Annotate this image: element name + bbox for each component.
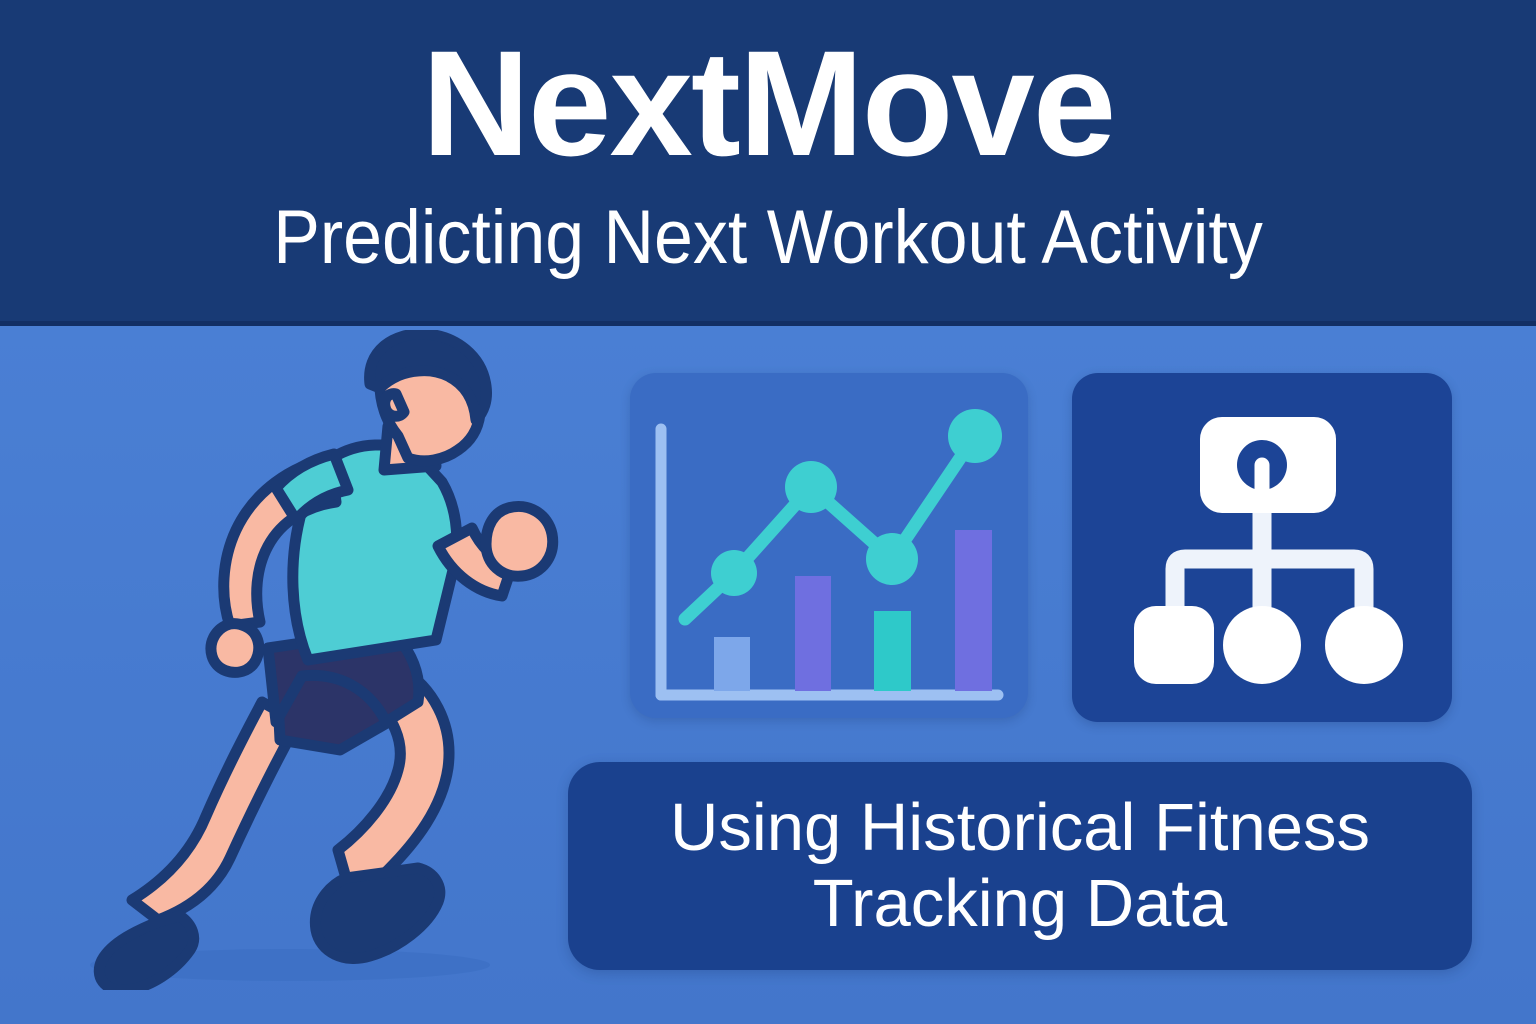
data-point-1 [711, 550, 757, 596]
banner-line-1: Using Historical Fitness [670, 790, 1370, 866]
running-man-illustration [40, 330, 600, 990]
child-node-right [1325, 606, 1403, 684]
chart-card [630, 373, 1028, 718]
data-point-2 [785, 461, 837, 513]
page-subtitle: Predicting Next Workout Activity [61, 196, 1474, 280]
front-shoe-icon [315, 868, 439, 958]
ear-icon [385, 394, 404, 417]
child-node-middle [1223, 606, 1301, 684]
data-point-4 [948, 409, 1002, 463]
data-point-3 [866, 533, 918, 585]
hierarchy-diagram-card [1072, 373, 1452, 722]
page-title: NextMove [0, 28, 1536, 178]
front-fist-icon [486, 506, 553, 576]
child-node-left [1134, 606, 1214, 684]
bar-1 [714, 637, 750, 691]
bar-4 [955, 530, 992, 691]
bar-2 [795, 576, 831, 691]
banner-line-2: Tracking Data [813, 866, 1228, 942]
connector-right [1262, 559, 1364, 611]
rear-fist-icon [211, 624, 259, 673]
back-shoe-icon [99, 916, 193, 990]
connector-left [1175, 559, 1262, 611]
poster-root: NextMove Predicting Next Workout Activit… [0, 0, 1536, 1024]
bar-3 [874, 611, 911, 691]
subtitle-banner: Using Historical Fitness Tracking Data [568, 762, 1472, 970]
